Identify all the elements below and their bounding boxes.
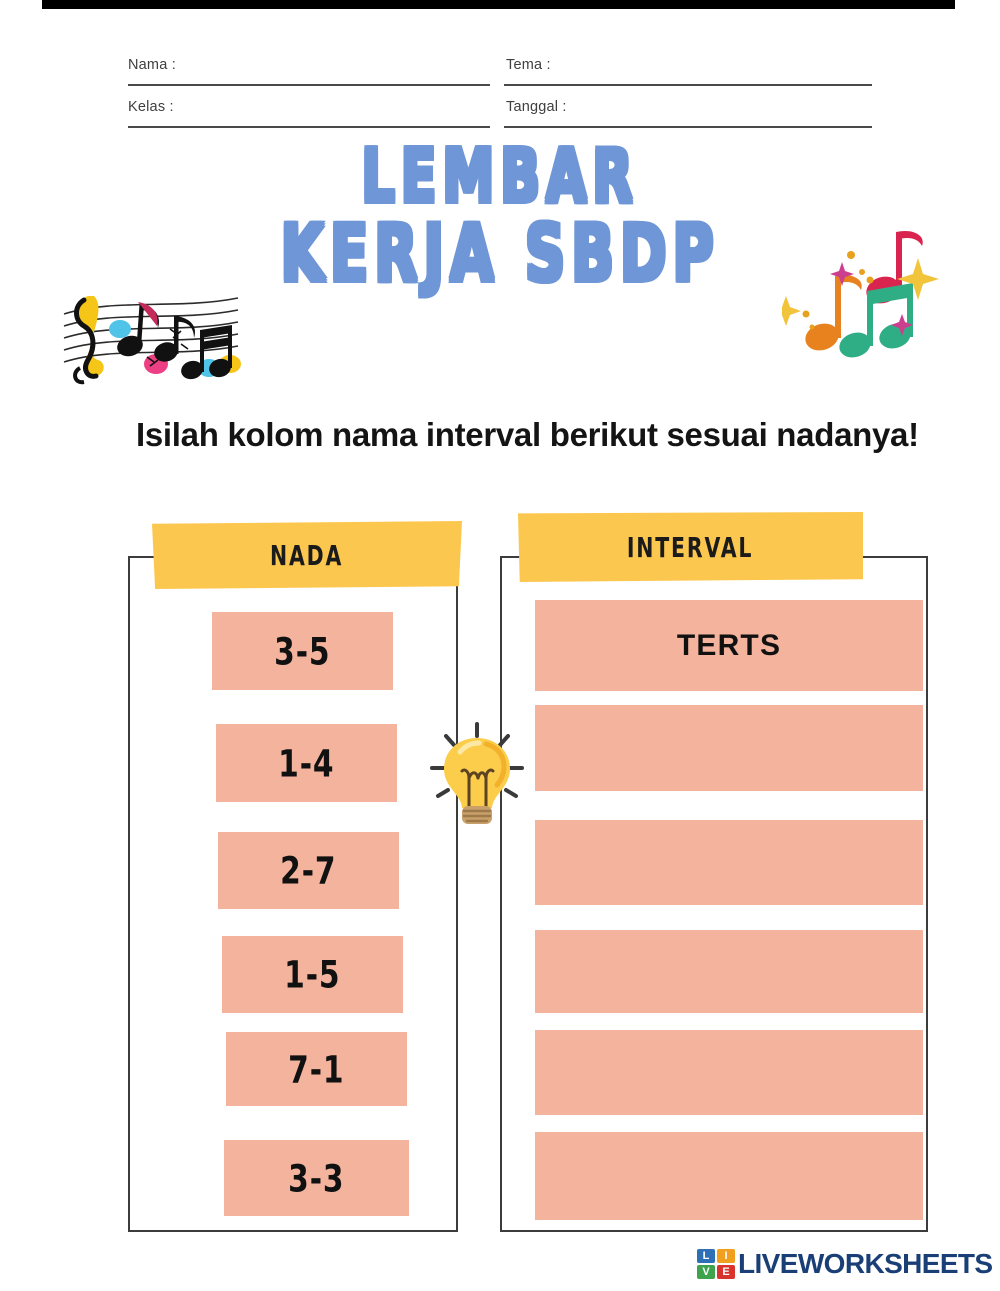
- meta-row-2: Kelas : Tanggal :: [128, 94, 872, 128]
- field-tanggal[interactable]: Tanggal :: [500, 94, 872, 128]
- field-kelas-label: Kelas :: [128, 99, 174, 115]
- interval-answer-field[interactable]: [535, 930, 923, 1013]
- nada-cell-value: 1-4: [278, 741, 334, 785]
- music-staff-notes-icon: [58, 276, 243, 391]
- music-notes-sparkle-icon: [782, 218, 947, 368]
- nada-cell: 3-5: [212, 612, 393, 690]
- top-black-bar: [42, 0, 955, 9]
- worksheet-page: Nama : Tema : Kelas : Tanggal : LEMBAR K…: [0, 0, 1000, 1291]
- liveworksheets-brand-text: LIVEWORKSHEETS: [738, 1248, 993, 1280]
- interval-answer-field[interactable]: TERTS: [535, 600, 923, 691]
- nada-cell-value: 3-3: [288, 1156, 344, 1200]
- lightbulb-icon: [424, 716, 530, 828]
- interval-answer-field[interactable]: [535, 705, 923, 791]
- logo-tile-i: I: [717, 1249, 735, 1263]
- page-title-line-1: LEMBAR: [15, 142, 985, 211]
- nada-cell: 3-3: [224, 1140, 409, 1216]
- field-tema-line: [504, 84, 872, 86]
- nada-cell-value: 7-1: [288, 1047, 344, 1091]
- field-tanggal-label: Tanggal :: [506, 99, 567, 115]
- nada-header-banner: NADA: [152, 521, 462, 589]
- field-kelas-line: [128, 126, 490, 128]
- liveworksheets-logo-tiles-icon: L I V E: [697, 1249, 735, 1279]
- nada-cell: 2-7: [218, 832, 399, 909]
- student-info-section: Nama : Tema : Kelas : Tanggal :: [128, 48, 872, 128]
- field-tanggal-line: [504, 126, 872, 128]
- field-tema-label: Tema :: [506, 57, 551, 73]
- interval-answer-value: TERTS: [677, 629, 781, 663]
- liveworksheets-logo[interactable]: L I V E LIVEWORKSHEETS: [697, 1247, 993, 1281]
- logo-tile-l: L: [697, 1249, 715, 1263]
- interval-answer-field[interactable]: [535, 1030, 923, 1115]
- nada-cell-value: 2-7: [280, 849, 336, 893]
- interval-answer-field[interactable]: [535, 820, 923, 905]
- interval-header-label: INTERVAL: [627, 531, 753, 563]
- logo-tile-e: E: [717, 1265, 735, 1279]
- nada-header-label: NADA: [270, 539, 343, 571]
- field-nama-label: Nama :: [128, 57, 176, 73]
- interval-answer-field[interactable]: [535, 1132, 923, 1220]
- interval-header-banner: INTERVAL: [518, 512, 863, 582]
- logo-tile-v: V: [697, 1265, 715, 1279]
- nada-cell: 7-1: [226, 1032, 407, 1106]
- nada-cell: 1-4: [216, 724, 397, 802]
- field-tema[interactable]: Tema :: [500, 52, 872, 86]
- nada-cell-value: 1-5: [284, 953, 340, 997]
- field-nama[interactable]: Nama :: [128, 52, 500, 86]
- field-kelas[interactable]: Kelas :: [128, 94, 500, 128]
- nada-cell: 1-5: [222, 936, 403, 1013]
- nada-cell-value: 3-5: [274, 629, 330, 673]
- meta-row-1: Nama : Tema :: [128, 52, 872, 86]
- instruction-text: Isilah kolom nama interval berikut sesua…: [136, 408, 936, 461]
- field-nama-line: [128, 84, 490, 86]
